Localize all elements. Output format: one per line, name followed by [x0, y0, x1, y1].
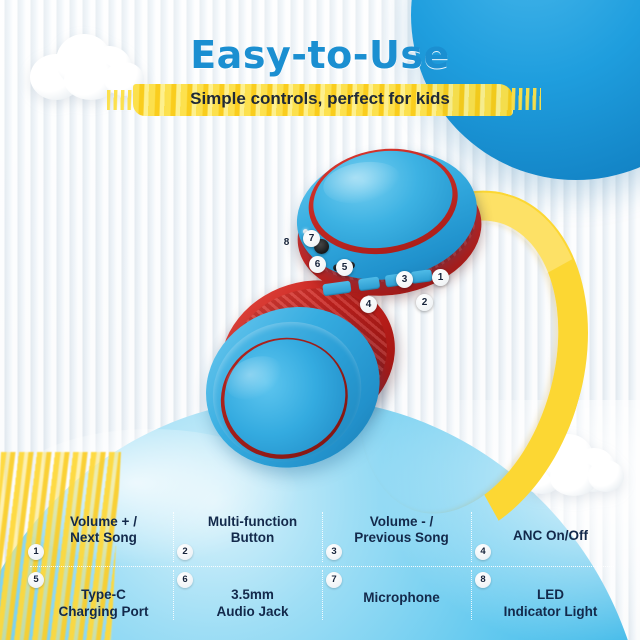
legend-cell-5[interactable]: 5 Type-C Charging Port [24, 568, 173, 626]
legend-label-4: ANC On/Off [485, 528, 616, 544]
legend-vertical-divider-1 [173, 512, 174, 562]
page-subtitle: Simple controls, perfect for kids [0, 89, 640, 109]
volume-down-button[interactable] [358, 277, 380, 292]
legend-label-4-line1: ANC On/Off [485, 528, 616, 544]
legend-label-2: Multi-function Button [187, 514, 318, 547]
legend-label-1-line1: Volume + / [38, 514, 169, 530]
legend-cell-3[interactable]: 3 Volume - / Previous Song [322, 508, 471, 566]
subtitle-banner: Simple controls, perfect for kids [0, 80, 640, 120]
callout-badge-5[interactable]: 5 [336, 259, 353, 276]
legend-label-5: Type-C Charging Port [38, 587, 169, 620]
legend-vertical-divider-4 [173, 570, 174, 620]
legend-label-3-line2: Previous Song [336, 530, 467, 546]
legend-label-6: 3.5mm Audio Jack [187, 587, 318, 620]
legend-cell-4[interactable]: 4 ANC On/Off [471, 508, 620, 566]
callout-badge-8[interactable]: 8 [278, 234, 295, 251]
legend-vertical-divider-6 [471, 570, 472, 620]
legend-cell-7[interactable]: 7 Microphone [322, 568, 471, 626]
callout-badge-3[interactable]: 3 [396, 271, 413, 288]
legend-label-2-line1: Multi-function [187, 514, 318, 530]
callout-badge-7[interactable]: 7 [303, 230, 320, 247]
callout-badge-4[interactable]: 4 [360, 296, 377, 313]
page-title: Easy-to-Use [0, 33, 640, 77]
legend-label-3-line1: Volume - / [336, 514, 467, 530]
legend-badge-4: 4 [475, 544, 491, 560]
legend-label-2-line2: Button [187, 530, 318, 546]
legend-cell-8[interactable]: 8 LED Indicator Light [471, 568, 620, 626]
legend-horizontal-divider [30, 566, 614, 567]
headphones-illustration [185, 135, 515, 495]
anc-button[interactable] [322, 281, 351, 297]
legend-cell-2[interactable]: 2 Multi-function Button [173, 508, 322, 566]
infographic-canvas: Easy-to-Use Simple controls, perfect for… [0, 0, 640, 640]
legend-badge-7: 7 [326, 572, 342, 588]
legend-label-7: Microphone [336, 590, 467, 606]
legend-label-8-line2: Indicator Light [485, 604, 616, 620]
legend-vertical-divider-3 [471, 512, 472, 562]
callout-badge-1[interactable]: 1 [432, 269, 449, 286]
callout-badge-2[interactable]: 2 [416, 294, 433, 311]
legend-badge-8: 8 [475, 572, 491, 588]
legend-label-6-line2: Audio Jack [187, 604, 318, 620]
legend-vertical-divider-5 [322, 570, 323, 620]
legend-cell-6[interactable]: 6 3.5mm Audio Jack [173, 568, 322, 626]
volume-up-button[interactable] [410, 269, 432, 284]
callout-badge-6[interactable]: 6 [309, 256, 326, 273]
legend-label-3: Volume - / Previous Song [336, 514, 467, 547]
legend-label-1-line2: Next Song [38, 530, 169, 546]
legend-label-8-line1: LED [485, 587, 616, 603]
legend-label-5-line2: Charging Port [38, 604, 169, 620]
legend-vertical-divider-2 [322, 512, 323, 562]
legend-badge-6: 6 [177, 572, 193, 588]
legend-label-1: Volume + / Next Song [38, 514, 169, 547]
legend-cell-1[interactable]: 1 Volume + / Next Song [24, 508, 173, 566]
legend-table: 1 Volume + / Next Song 2 Multi-function … [24, 508, 620, 628]
legend-label-5-line1: Type-C [38, 587, 169, 603]
legend-badge-5: 5 [28, 572, 44, 588]
legend-label-7-line1: Microphone [336, 590, 467, 606]
legend-label-6-line1: 3.5mm [187, 587, 318, 603]
legend-label-8: LED Indicator Light [485, 587, 616, 620]
